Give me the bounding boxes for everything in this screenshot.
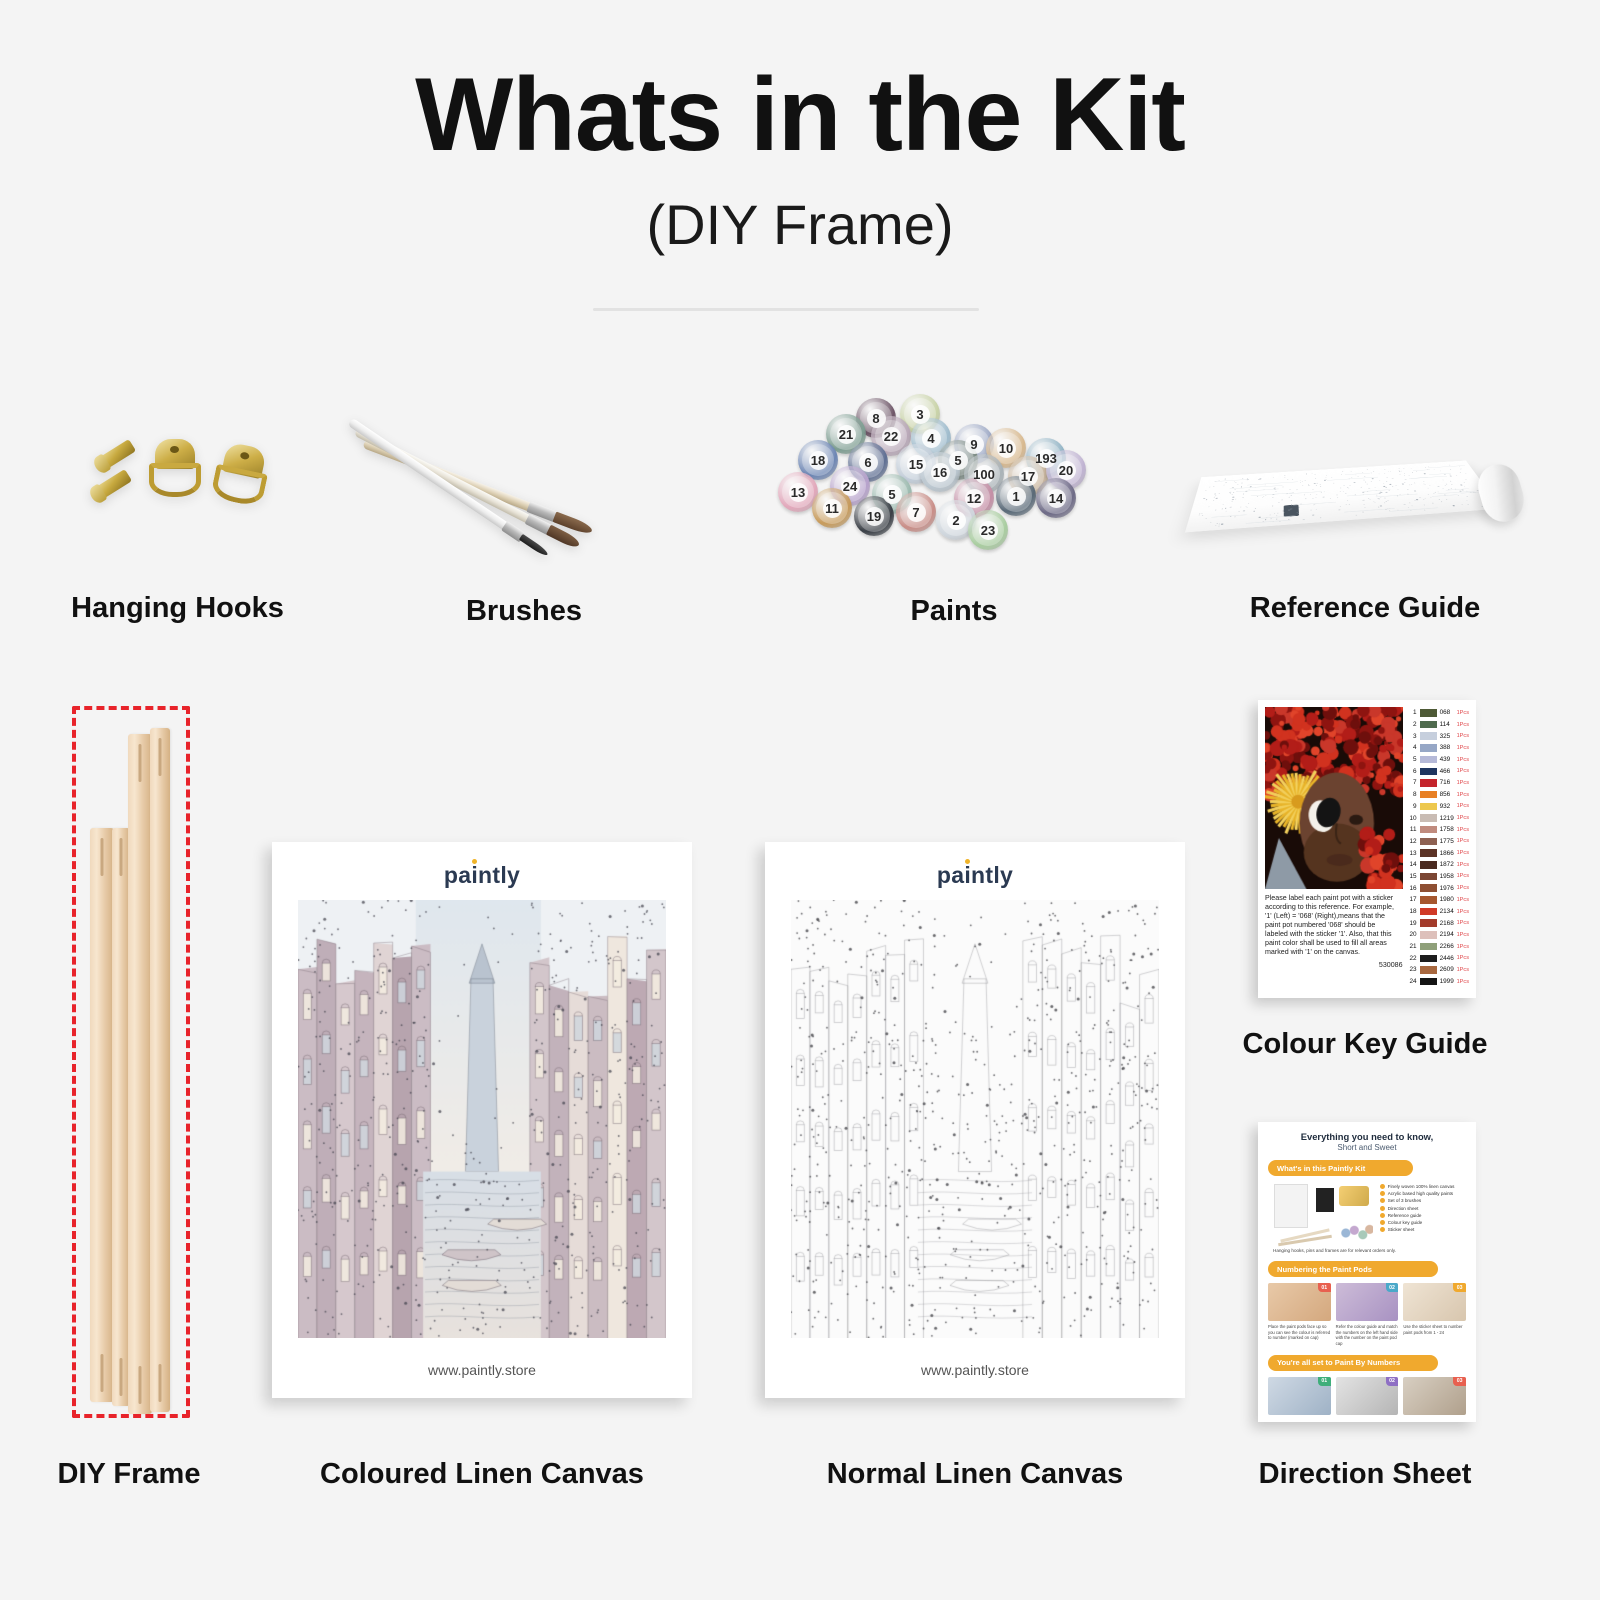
colour-key-index: 10: [1407, 815, 1420, 822]
colour-key-pcs: 1Pcs: [1457, 920, 1469, 926]
colour-key-code: 530086: [1265, 961, 1403, 969]
step-caption: Use the sticker sheet to number paint po…: [1403, 1324, 1466, 1335]
kit-bullet-item: Finely woven 100% linen canvas: [1380, 1184, 1466, 1189]
bullet-text: Reference guide: [1388, 1213, 1422, 1218]
colour-key-pcs: 1Pcs: [1457, 967, 1469, 973]
colour-key-pcs: 1Pcs: [1457, 733, 1469, 739]
step-thumbnail: 01: [1268, 1377, 1331, 1415]
colour-key-index: 17: [1407, 896, 1420, 903]
label-colour-key-guide: Colour Key Guide: [1185, 1028, 1545, 1061]
colour-key-pcs: 1Pcs: [1457, 885, 1469, 891]
colour-key-pcs: 1Pcs: [1457, 955, 1469, 961]
colour-swatch: [1420, 803, 1437, 811]
colour-swatch: [1420, 884, 1437, 892]
paint-pot: 23: [968, 510, 1008, 550]
brushes-image: [350, 405, 680, 535]
colour-key-row: 21141Pcs: [1407, 719, 1469, 731]
colour-key-pcs: 1Pcs: [1457, 757, 1469, 763]
colour-key-row: 1217751Pcs: [1407, 836, 1469, 848]
colour-key-pcs: 1Pcs: [1457, 815, 1469, 821]
colour-key-index: 3: [1407, 733, 1420, 740]
poster-roll: [1473, 459, 1529, 526]
numbering-step-card: 03Use the sticker sheet to number paint …: [1403, 1283, 1466, 1347]
bullet-text: Sticker sheet: [1388, 1227, 1415, 1232]
colour-key-pcs: 1Pcs: [1457, 897, 1469, 903]
hanging-hooks-image: [95, 425, 275, 520]
direction-sheet-subtitle: Short and Sweet: [1268, 1143, 1466, 1152]
colour-key-row: 2326091Pcs: [1407, 964, 1469, 976]
kit-footnote: Hanging hooks, pins and frames are for r…: [1268, 1248, 1466, 1253]
colour-key-index: 4: [1407, 744, 1420, 751]
colour-key-row: 1619761Pcs: [1407, 882, 1469, 894]
colour-key-code: 1980: [1437, 896, 1457, 903]
kit-bullet-item: Set of 3 brushes: [1380, 1198, 1466, 1203]
colour-key-pcs: 1Pcs: [1457, 932, 1469, 938]
colour-key-row: 2224461Pcs: [1407, 952, 1469, 964]
colour-key-index: 6: [1407, 768, 1420, 775]
kit-bullet-item: Acrylic based high quality paints: [1380, 1191, 1466, 1196]
numbering-step-card: 01Place the paint pods face up so you ca…: [1268, 1283, 1331, 1347]
canvas-url: www.paintly.store: [765, 1362, 1185, 1378]
colour-key-code: 466: [1437, 768, 1457, 775]
colour-key-index: 18: [1407, 908, 1420, 915]
colour-key-row: 54391Pcs: [1407, 754, 1469, 766]
colour-key-pcs: 1Pcs: [1457, 768, 1469, 774]
colour-swatch: [1420, 966, 1437, 974]
label-reference-guide: Reference Guide: [1185, 592, 1545, 625]
bullet-dot-icon: [1380, 1184, 1385, 1189]
colour-key-index: 12: [1407, 838, 1420, 845]
colour-key-index: 5: [1407, 756, 1420, 763]
colour-key-pcs: 1Pcs: [1457, 944, 1469, 950]
colour-key-row: 1117581Pcs: [1407, 824, 1469, 836]
colour-swatch: [1420, 732, 1437, 740]
paint-pots-image: 8321224918615510193241610017205121141311…: [768, 392, 1088, 542]
step-badge: 01: [1318, 1283, 1331, 1292]
page-subtitle: (DIY Frame): [0, 192, 1600, 257]
paint-brush-icon: [347, 418, 551, 560]
colour-swatch: [1420, 849, 1437, 857]
colour-key-index: 1: [1407, 709, 1420, 716]
colour-key-row: 1821341Pcs: [1407, 906, 1469, 918]
colour-key-code: 1999: [1437, 978, 1457, 985]
bullet-dot-icon: [1380, 1227, 1385, 1232]
colour-key-code: 2609: [1437, 966, 1457, 973]
label-brushes: Brushes: [345, 595, 703, 628]
step-badge: 03: [1453, 1283, 1466, 1292]
colour-key-code: 388: [1437, 744, 1457, 751]
canvas-artwork-normal: [791, 900, 1159, 1338]
colour-key-row: 2021941Pcs: [1407, 929, 1469, 941]
colour-key-row: 1921681Pcs: [1407, 917, 1469, 929]
colour-key-index: 15: [1407, 873, 1420, 880]
colour-key-code: 2168: [1437, 920, 1457, 927]
colour-key-pcs: 1Pcs: [1457, 827, 1469, 833]
paint-pot: 14: [1036, 478, 1076, 518]
direction-sheet-image: Everything you need to know, Short and S…: [1258, 1122, 1476, 1422]
step-thumbnail: 01: [1268, 1283, 1331, 1321]
colour-key-row: 1418721Pcs: [1407, 859, 1469, 871]
bullet-dot-icon: [1380, 1191, 1385, 1196]
colour-key-row: 1519581Pcs: [1407, 871, 1469, 883]
bullet-text: Finely woven 100% linen canvas: [1388, 1184, 1455, 1189]
diy-frame-image: [72, 706, 190, 1418]
label-hanging-hooks: Hanging Hooks: [0, 592, 355, 625]
paintly-logo: paintly: [272, 862, 692, 889]
bullet-text: Acrylic based high quality paints: [1388, 1191, 1453, 1196]
screw-icon: [100, 439, 136, 469]
allset-steps-grid: 010203: [1268, 1377, 1466, 1415]
colour-key-photo: [1265, 707, 1403, 889]
colour-key-pcs: 1Pcs: [1457, 862, 1469, 868]
colour-swatch: [1420, 791, 1437, 799]
colour-key-code: 2446: [1437, 955, 1457, 962]
colour-key-pcs: 1Pcs: [1457, 850, 1469, 856]
colour-swatch: [1420, 779, 1437, 787]
bullet-text: Direction sheet: [1388, 1206, 1419, 1211]
colour-key-row: 1719801Pcs: [1407, 894, 1469, 906]
colour-key-index: 14: [1407, 861, 1420, 868]
colour-swatch: [1420, 943, 1437, 951]
bullet-dot-icon: [1380, 1213, 1385, 1218]
colour-key-code: 932: [1437, 803, 1457, 810]
colour-key-index: 23: [1407, 966, 1420, 973]
colour-key-pcs: 1Pcs: [1457, 722, 1469, 728]
bullet-text: Set of 3 brushes: [1388, 1198, 1421, 1203]
colour-key-index: 21: [1407, 943, 1420, 950]
colour-key-index: 20: [1407, 931, 1420, 938]
colour-swatch: [1420, 709, 1437, 717]
colour-swatch: [1420, 861, 1437, 869]
colour-key-pcs: 1Pcs: [1457, 909, 1469, 915]
colour-key-code: 856: [1437, 791, 1457, 798]
colour-key-list: 10681Pcs21141Pcs33251Pcs43881Pcs54391Pcs…: [1403, 707, 1469, 991]
colour-key-note: Please label each paint pot with a stick…: [1265, 894, 1403, 958]
numbering-step-card: 02Refer the colour guide and match the n…: [1336, 1283, 1399, 1347]
colour-key-index: 7: [1407, 779, 1420, 786]
colour-swatch: [1420, 931, 1437, 939]
label-diy-frame: DIY Frame: [0, 1458, 258, 1491]
colour-key-row: 1318661Pcs: [1407, 847, 1469, 859]
colour-key-row: 10681Pcs: [1407, 707, 1469, 719]
step-thumbnail: 03: [1403, 1283, 1466, 1321]
colour-key-row: 33251Pcs: [1407, 730, 1469, 742]
allset-step-card: 02: [1336, 1377, 1399, 1415]
colour-key-code: 1976: [1437, 885, 1457, 892]
colour-key-pcs: 1Pcs: [1457, 803, 1469, 809]
step-badge: 02: [1386, 1377, 1399, 1386]
canvas-artwork-coloured: [298, 900, 666, 1338]
reference-poster: [1185, 461, 1501, 533]
kit-bullet-item: Colour key guide: [1380, 1220, 1466, 1225]
colour-key-code: 2134: [1437, 908, 1457, 915]
colour-key-code: 2266: [1437, 943, 1457, 950]
colour-key-index: 8: [1407, 791, 1420, 798]
direction-sheet-title: Everything you need to know,: [1268, 1131, 1466, 1142]
step-badge: 02: [1386, 1283, 1399, 1292]
kit-bullet-list: Finely woven 100% linen canvasAcrylic ba…: [1380, 1182, 1466, 1244]
step-thumbnail: 03: [1403, 1377, 1466, 1415]
kit-bullet-item: Reference guide: [1380, 1213, 1466, 1218]
colour-key-code: 1775: [1437, 838, 1457, 845]
step-thumbnail: 02: [1336, 1377, 1399, 1415]
colour-key-row: 43881Pcs: [1407, 742, 1469, 754]
colour-key-row: 99321Pcs: [1407, 801, 1469, 813]
band-all-set: You're all set to Paint By Numbers: [1268, 1355, 1438, 1371]
colour-key-code: 439: [1437, 756, 1457, 763]
bullet-dot-icon: [1380, 1198, 1385, 1203]
normal-linen-canvas-image: paintly www.paintly.store: [765, 842, 1185, 1398]
colour-key-pcs: 1Pcs: [1457, 710, 1469, 716]
colour-swatch: [1420, 838, 1437, 846]
colour-key-index: 9: [1407, 803, 1420, 810]
colour-swatch: [1420, 896, 1437, 904]
colour-key-guide-image: Please label each paint pot with a stick…: [1258, 700, 1476, 998]
kit-contents-photo: [1268, 1182, 1375, 1244]
paintly-logo: paintly: [765, 862, 1185, 889]
d-ring-hook-icon: [207, 440, 275, 512]
colour-key-row: 77161Pcs: [1407, 777, 1469, 789]
colour-swatch: [1420, 826, 1437, 834]
reference-guide-image: [1198, 420, 1528, 570]
colour-key-row: 2122661Pcs: [1407, 941, 1469, 953]
step-thumbnail: 02: [1336, 1283, 1399, 1321]
band-whats-in-kit: What's in this Paintly Kit: [1268, 1160, 1413, 1176]
colour-swatch: [1420, 919, 1437, 927]
colour-key-index: 13: [1407, 850, 1420, 857]
colour-key-pcs: 1Pcs: [1457, 792, 1469, 798]
bullet-dot-icon: [1380, 1220, 1385, 1225]
colour-key-row: 64661Pcs: [1407, 765, 1469, 777]
screw-icon: [96, 469, 132, 499]
label-paints: Paints: [778, 595, 1130, 628]
kit-infographic-page: Whats in the Kit (DIY Frame) Hanging Hoo…: [0, 0, 1600, 1600]
colour-swatch: [1420, 908, 1437, 916]
step-caption: Place the paint pods face up so you can …: [1268, 1324, 1331, 1341]
allset-step-card: 01: [1268, 1377, 1331, 1415]
colour-key-pcs: 1Pcs: [1457, 838, 1469, 844]
colour-key-index: 11: [1407, 826, 1420, 833]
colour-swatch: [1420, 721, 1437, 729]
d-ring-hook-icon: [147, 439, 203, 501]
paint-pot: 7: [896, 492, 936, 532]
step-caption: Refer the colour guide and match the num…: [1336, 1324, 1399, 1347]
page-title: Whats in the Kit: [0, 58, 1600, 172]
highlight-dashed-box: [72, 706, 190, 1418]
kit-bullet-item: Direction sheet: [1380, 1206, 1466, 1211]
colour-key-code: 1758: [1437, 826, 1457, 833]
colour-swatch: [1420, 768, 1437, 776]
step-badge: 03: [1453, 1377, 1466, 1386]
bullet-text: Colour key guide: [1388, 1220, 1422, 1225]
colour-key-pcs: 1Pcs: [1457, 873, 1469, 879]
canvas-url: www.paintly.store: [272, 1362, 692, 1378]
band-numbering-paint-pods: Numbering the Paint Pods: [1268, 1261, 1438, 1277]
header-divider: [593, 308, 979, 311]
colour-key-index: 2: [1407, 721, 1420, 728]
colour-key-row: 1012191Pcs: [1407, 812, 1469, 824]
colour-key-code: 068: [1437, 709, 1457, 716]
colour-key-code: 1866: [1437, 850, 1457, 857]
colour-key-code: 1872: [1437, 861, 1457, 868]
colour-key-code: 716: [1437, 779, 1457, 786]
colour-key-index: 24: [1407, 978, 1420, 985]
colour-swatch: [1420, 873, 1437, 881]
colour-key-code: 114: [1437, 721, 1457, 728]
coloured-linen-canvas-image: paintly www.paintly.store: [272, 842, 692, 1398]
colour-swatch: [1420, 955, 1437, 963]
numbering-steps-grid: 01Place the paint pods face up so you ca…: [1268, 1283, 1466, 1347]
colour-key-code: 2194: [1437, 931, 1457, 938]
colour-key-index: 16: [1407, 885, 1420, 892]
colour-swatch: [1420, 756, 1437, 764]
kit-bullet-item: Sticker sheet: [1380, 1227, 1466, 1232]
colour-swatch: [1420, 978, 1437, 986]
colour-key-row: 88561Pcs: [1407, 789, 1469, 801]
allset-step-card: 03: [1403, 1377, 1466, 1415]
label-direction-sheet: Direction Sheet: [1185, 1458, 1545, 1491]
colour-key-pcs: 1Pcs: [1457, 780, 1469, 786]
colour-key-code: 1958: [1437, 873, 1457, 880]
colour-key-row: 2419991Pcs: [1407, 976, 1469, 988]
colour-key-pcs: 1Pcs: [1457, 979, 1469, 985]
colour-key-index: 19: [1407, 920, 1420, 927]
label-normal-linen-canvas: Normal Linen Canvas: [765, 1458, 1185, 1491]
colour-key-pcs: 1Pcs: [1457, 745, 1469, 751]
bullet-dot-icon: [1380, 1206, 1385, 1211]
colour-swatch: [1420, 744, 1437, 752]
colour-swatch: [1420, 814, 1437, 822]
colour-key-code: 1219: [1437, 815, 1457, 822]
label-coloured-linen-canvas: Coloured Linen Canvas: [272, 1458, 692, 1491]
colour-key-index: 22: [1407, 955, 1420, 962]
step-badge: 01: [1318, 1377, 1331, 1386]
colour-key-code: 325: [1437, 733, 1457, 740]
